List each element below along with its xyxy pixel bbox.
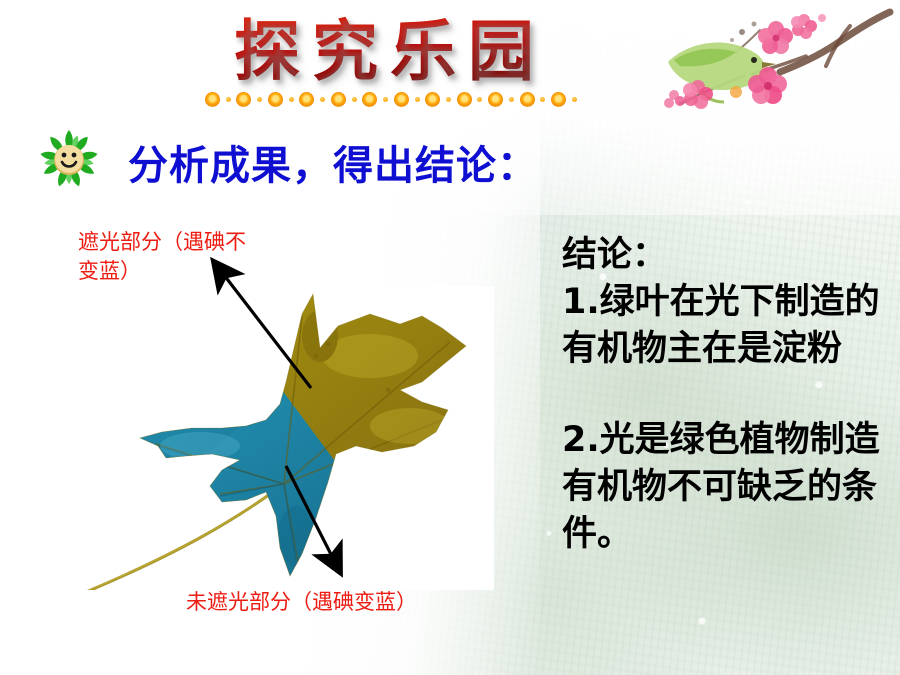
dot-icon bbox=[572, 97, 577, 102]
sunburst-icon bbox=[520, 92, 535, 107]
sunburst-icon bbox=[457, 92, 472, 107]
decorative-divider bbox=[205, 88, 577, 110]
slide-canvas: 探究乐园 bbox=[0, 0, 900, 675]
leaf-photo-panel bbox=[70, 286, 494, 590]
label-unshaded-part: 未遮光部分（遇碘变蓝） bbox=[186, 588, 417, 617]
leaf-iodine-photo bbox=[70, 286, 494, 590]
sunburst-icon bbox=[236, 92, 251, 107]
sunburst-icon bbox=[362, 92, 377, 107]
sunburst-icon bbox=[394, 92, 409, 107]
dot-icon bbox=[540, 97, 545, 102]
dot-icon bbox=[477, 97, 482, 102]
bird-plum-blossom-icon bbox=[640, 4, 900, 122]
sunflower-smiley-icon bbox=[38, 128, 100, 190]
slide-title: 探究乐园 bbox=[190, 12, 590, 92]
sunburst-icon bbox=[488, 92, 503, 107]
sunburst-icon bbox=[299, 92, 314, 107]
conclusion-item-1: 1.绿叶在光下制造的有机物主在是淀粉 bbox=[562, 279, 892, 373]
label-shaded-part: 遮光部分（遇碘不 变蓝） bbox=[78, 228, 298, 286]
dot-icon bbox=[320, 97, 325, 102]
dot-icon bbox=[226, 97, 231, 102]
dot-icon bbox=[352, 97, 357, 102]
conclusion-item-2: 2.光是绿色植物制造有机物不可缺乏的条件。 bbox=[562, 417, 892, 558]
dot-icon bbox=[509, 97, 514, 102]
sunburst-icon bbox=[551, 92, 566, 107]
dot-icon bbox=[446, 97, 451, 102]
dot-icon bbox=[415, 97, 420, 102]
sunburst-icon bbox=[205, 92, 220, 107]
sunburst-icon bbox=[331, 92, 346, 107]
dot-icon bbox=[383, 97, 388, 102]
label-shaded-line1: 遮光部分（遇碘不 bbox=[78, 230, 246, 254]
conclusion-heading: 结论： bbox=[562, 232, 892, 279]
slide-title-text: 探究乐园 bbox=[190, 12, 590, 90]
sunburst-icon bbox=[425, 92, 440, 107]
page-headline: 分析成果，得出结论： bbox=[128, 133, 538, 191]
dot-icon bbox=[257, 97, 262, 102]
label-shaded-line2: 变蓝） bbox=[78, 259, 141, 283]
dot-icon bbox=[289, 97, 294, 102]
conclusion-block: 结论： 1.绿叶在光下制造的有机物主在是淀粉 2.光是绿色植物制造有机物不可缺乏… bbox=[562, 232, 892, 558]
sunburst-icon bbox=[268, 92, 283, 107]
